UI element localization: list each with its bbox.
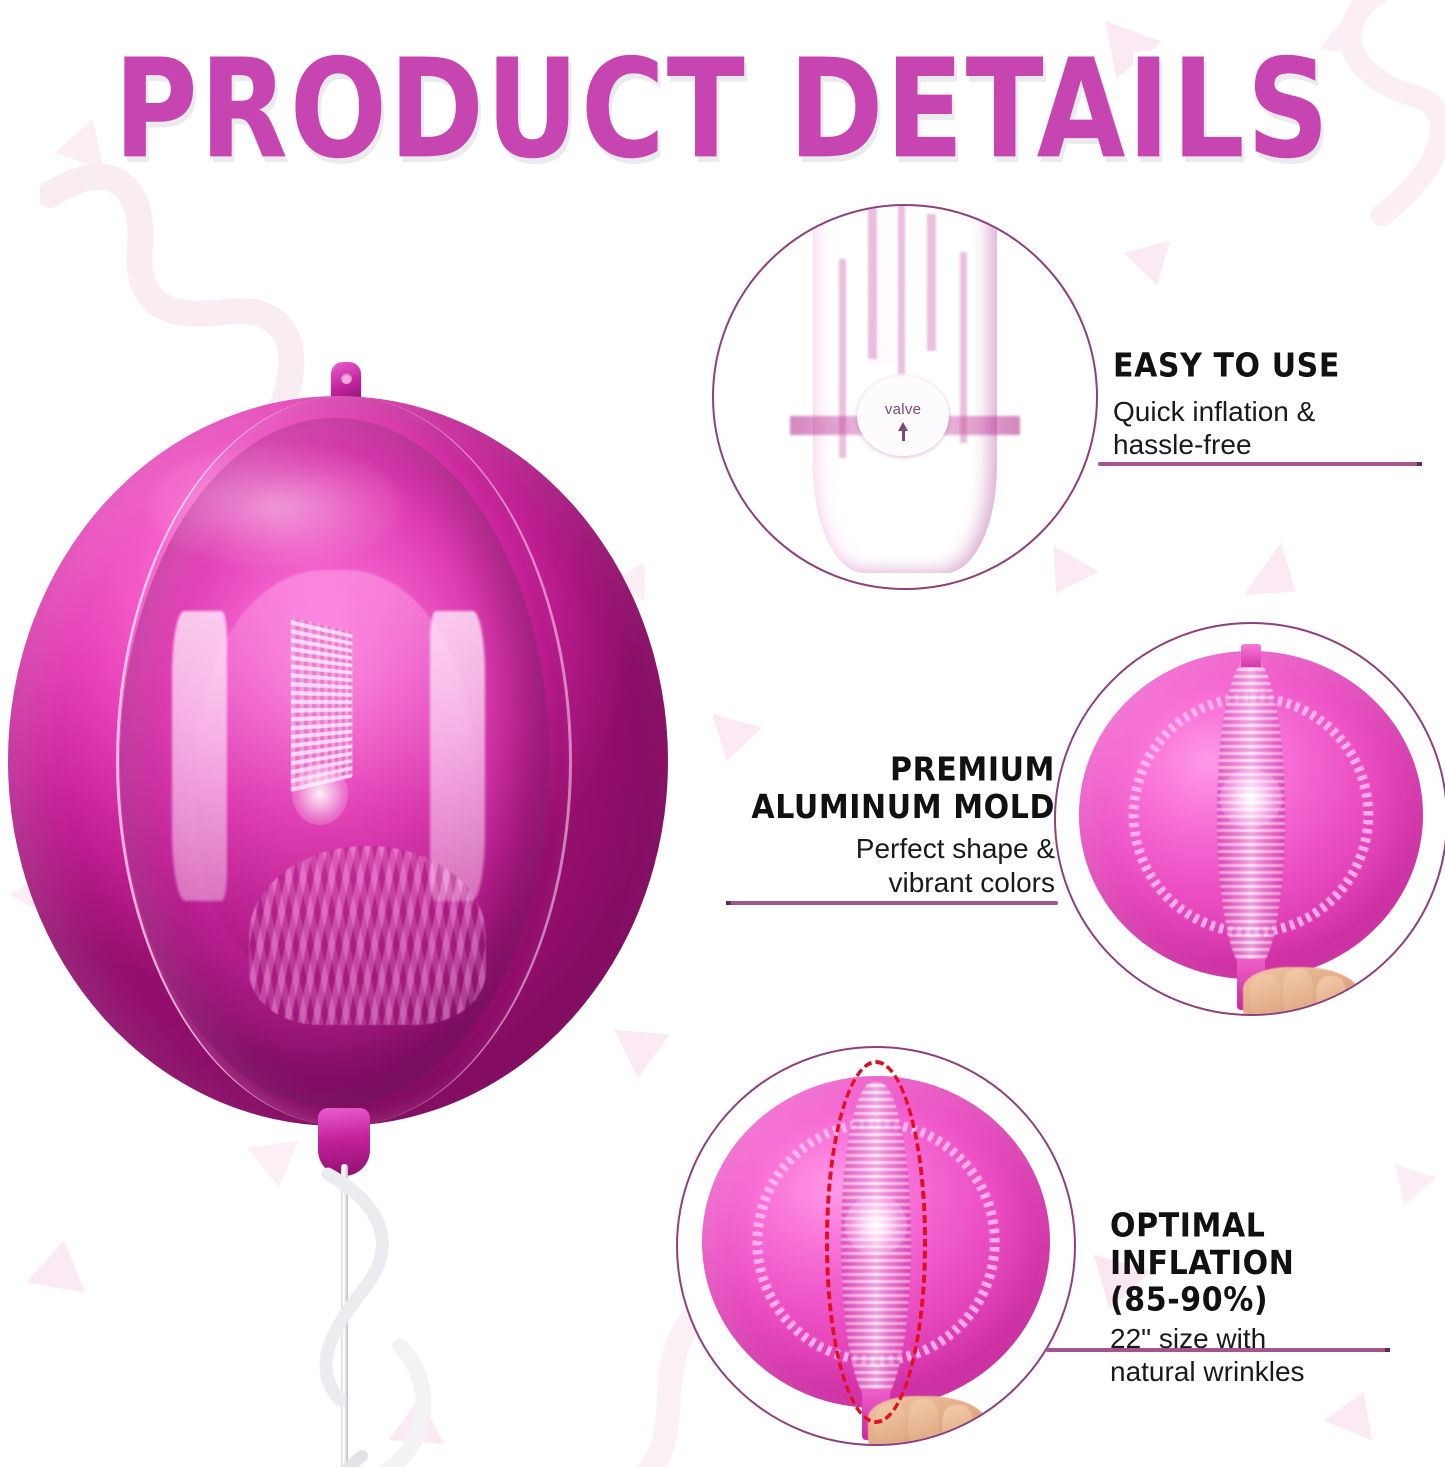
confetti-triangle <box>1124 240 1181 291</box>
reflection-room <box>197 570 472 984</box>
reflection-floor <box>249 846 486 1025</box>
feature-rule-tick-1 <box>1417 462 1422 466</box>
reflection-wall-left <box>172 611 228 901</box>
feature-block-easy-to-use: EASY TO USE Quick inflation & hassle-fre… <box>1113 348 1429 462</box>
feature-rule-tick-3 <box>1385 1348 1390 1352</box>
confetti-triangle <box>1324 1382 1388 1440</box>
page-title-text: PRODUCT DETAILS <box>114 38 1331 182</box>
feature-body: Perfect shape & vibrant colors <box>735 832 1055 899</box>
reflection-window <box>291 617 352 792</box>
feature-heading: EASY TO USE <box>1113 348 1429 385</box>
valve-label: valve <box>885 402 922 417</box>
feature-block-premium-aluminum-mold: PREMIUM ALUMINUM MOLD Perfect shape & vi… <box>735 752 1055 899</box>
foil-balloon-photo-inflation <box>678 1048 1074 1444</box>
page-title: PRODUCT DETAILS <box>0 38 1445 162</box>
up-arrow-icon <box>898 422 908 431</box>
feature-body: Quick inflation & hassle-free <box>1113 395 1429 462</box>
feature-heading: PREMIUM ALUMINUM MOLD <box>735 752 1055 826</box>
feature-rule-1 <box>1098 462 1422 466</box>
hand-holding-balloon <box>1243 967 1360 1016</box>
feature-heading: OPTIMAL INFLATION (85-90%) <box>1110 1208 1440 1319</box>
curling-ribbon <box>270 1156 490 1467</box>
valve-closeup-photo: valve <box>714 206 1096 588</box>
feature-block-optimal-inflation: OPTIMAL INFLATION (85-90%) 22" size with… <box>1110 1208 1440 1389</box>
foil-nozzle-top <box>1241 644 1261 667</box>
inset-circle-valve: valve <box>712 204 1098 590</box>
foil-balloon-body <box>1079 651 1422 979</box>
confetti-triangle <box>1384 1164 1437 1212</box>
valve-sticker: valve <box>857 376 949 456</box>
feature-rule-3 <box>1046 1348 1390 1352</box>
inflation-highlight-ellipse <box>825 1060 928 1424</box>
inset-circle-inflation <box>676 1046 1076 1446</box>
feature-rule-2 <box>726 901 1058 905</box>
reflection-wall-right <box>430 611 486 901</box>
feature-rule-tick-2 <box>726 901 731 905</box>
reflection-highlight <box>292 763 348 825</box>
balloon-inner-sphere <box>120 418 550 1108</box>
inset-circle-mold <box>1054 622 1445 1016</box>
product-details-infographic: PRODUCT DETAILS <box>0 0 1445 1467</box>
foil-balloon-photo-mold <box>1056 624 1445 1014</box>
hero-balloon-image <box>0 356 680 1466</box>
confetti-triangle <box>1244 542 1313 617</box>
feature-body: 22" size with natural wrinkles <box>1110 1322 1440 1389</box>
foil-seam-highlight <box>1220 769 1282 828</box>
balloon-stick <box>341 1164 348 1467</box>
